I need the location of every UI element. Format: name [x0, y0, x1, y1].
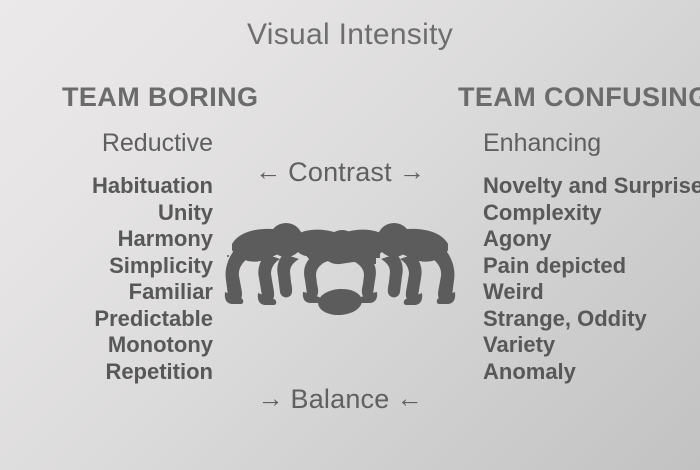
attribute-list-left: Habituation Unity Harmony Simplicity Fam…: [0, 173, 213, 385]
list-item: Complexity: [483, 200, 700, 227]
infographic-canvas: Visual Intensity TEAM BORING Reductive H…: [0, 0, 700, 470]
list-item: Variety: [483, 332, 700, 359]
list-item: Familiar: [0, 279, 213, 306]
list-item: Simplicity: [0, 253, 213, 280]
axis-balance-text: Balance: [284, 384, 397, 414]
list-item: Predictable: [0, 306, 213, 333]
attribute-list-right: Novelty and Surprise Complexity Agony Pa…: [483, 173, 700, 385]
football-line-of-scrimmage-silhouette: [224, 214, 456, 329]
arrow-right-icon: →: [258, 383, 284, 413]
arrow-left-icon: ←: [396, 383, 422, 413]
team-lead-word-left: Reductive: [0, 129, 213, 158]
list-item: Agony: [483, 226, 700, 253]
team-lead-word-right: Enhancing: [483, 129, 601, 158]
football-icon: [317, 287, 363, 316]
axis-label-contrast: ←Contrast→: [225, 156, 455, 188]
arrow-left-icon: ←: [255, 156, 281, 186]
list-item: Monotony: [0, 332, 213, 359]
list-item: Strange, Oddity: [483, 306, 700, 333]
list-item: Novelty and Surprise: [483, 173, 700, 200]
axis-contrast-text: Contrast: [281, 157, 399, 187]
list-item: Repetition: [0, 359, 213, 386]
list-item: Pain depicted: [483, 253, 700, 280]
page-title: Visual Intensity: [0, 18, 700, 52]
team-header-left: TEAM BORING: [62, 82, 258, 113]
list-item: Unity: [0, 200, 213, 227]
list-item: Anomaly: [483, 359, 700, 386]
arrow-right-icon: →: [399, 156, 425, 186]
list-item: Habituation: [0, 173, 213, 200]
list-item: Harmony: [0, 226, 213, 253]
axis-label-balance: →Balance←: [225, 383, 455, 415]
team-header-right: TEAM CONFUSING: [458, 82, 700, 113]
list-item: Weird: [483, 279, 700, 306]
